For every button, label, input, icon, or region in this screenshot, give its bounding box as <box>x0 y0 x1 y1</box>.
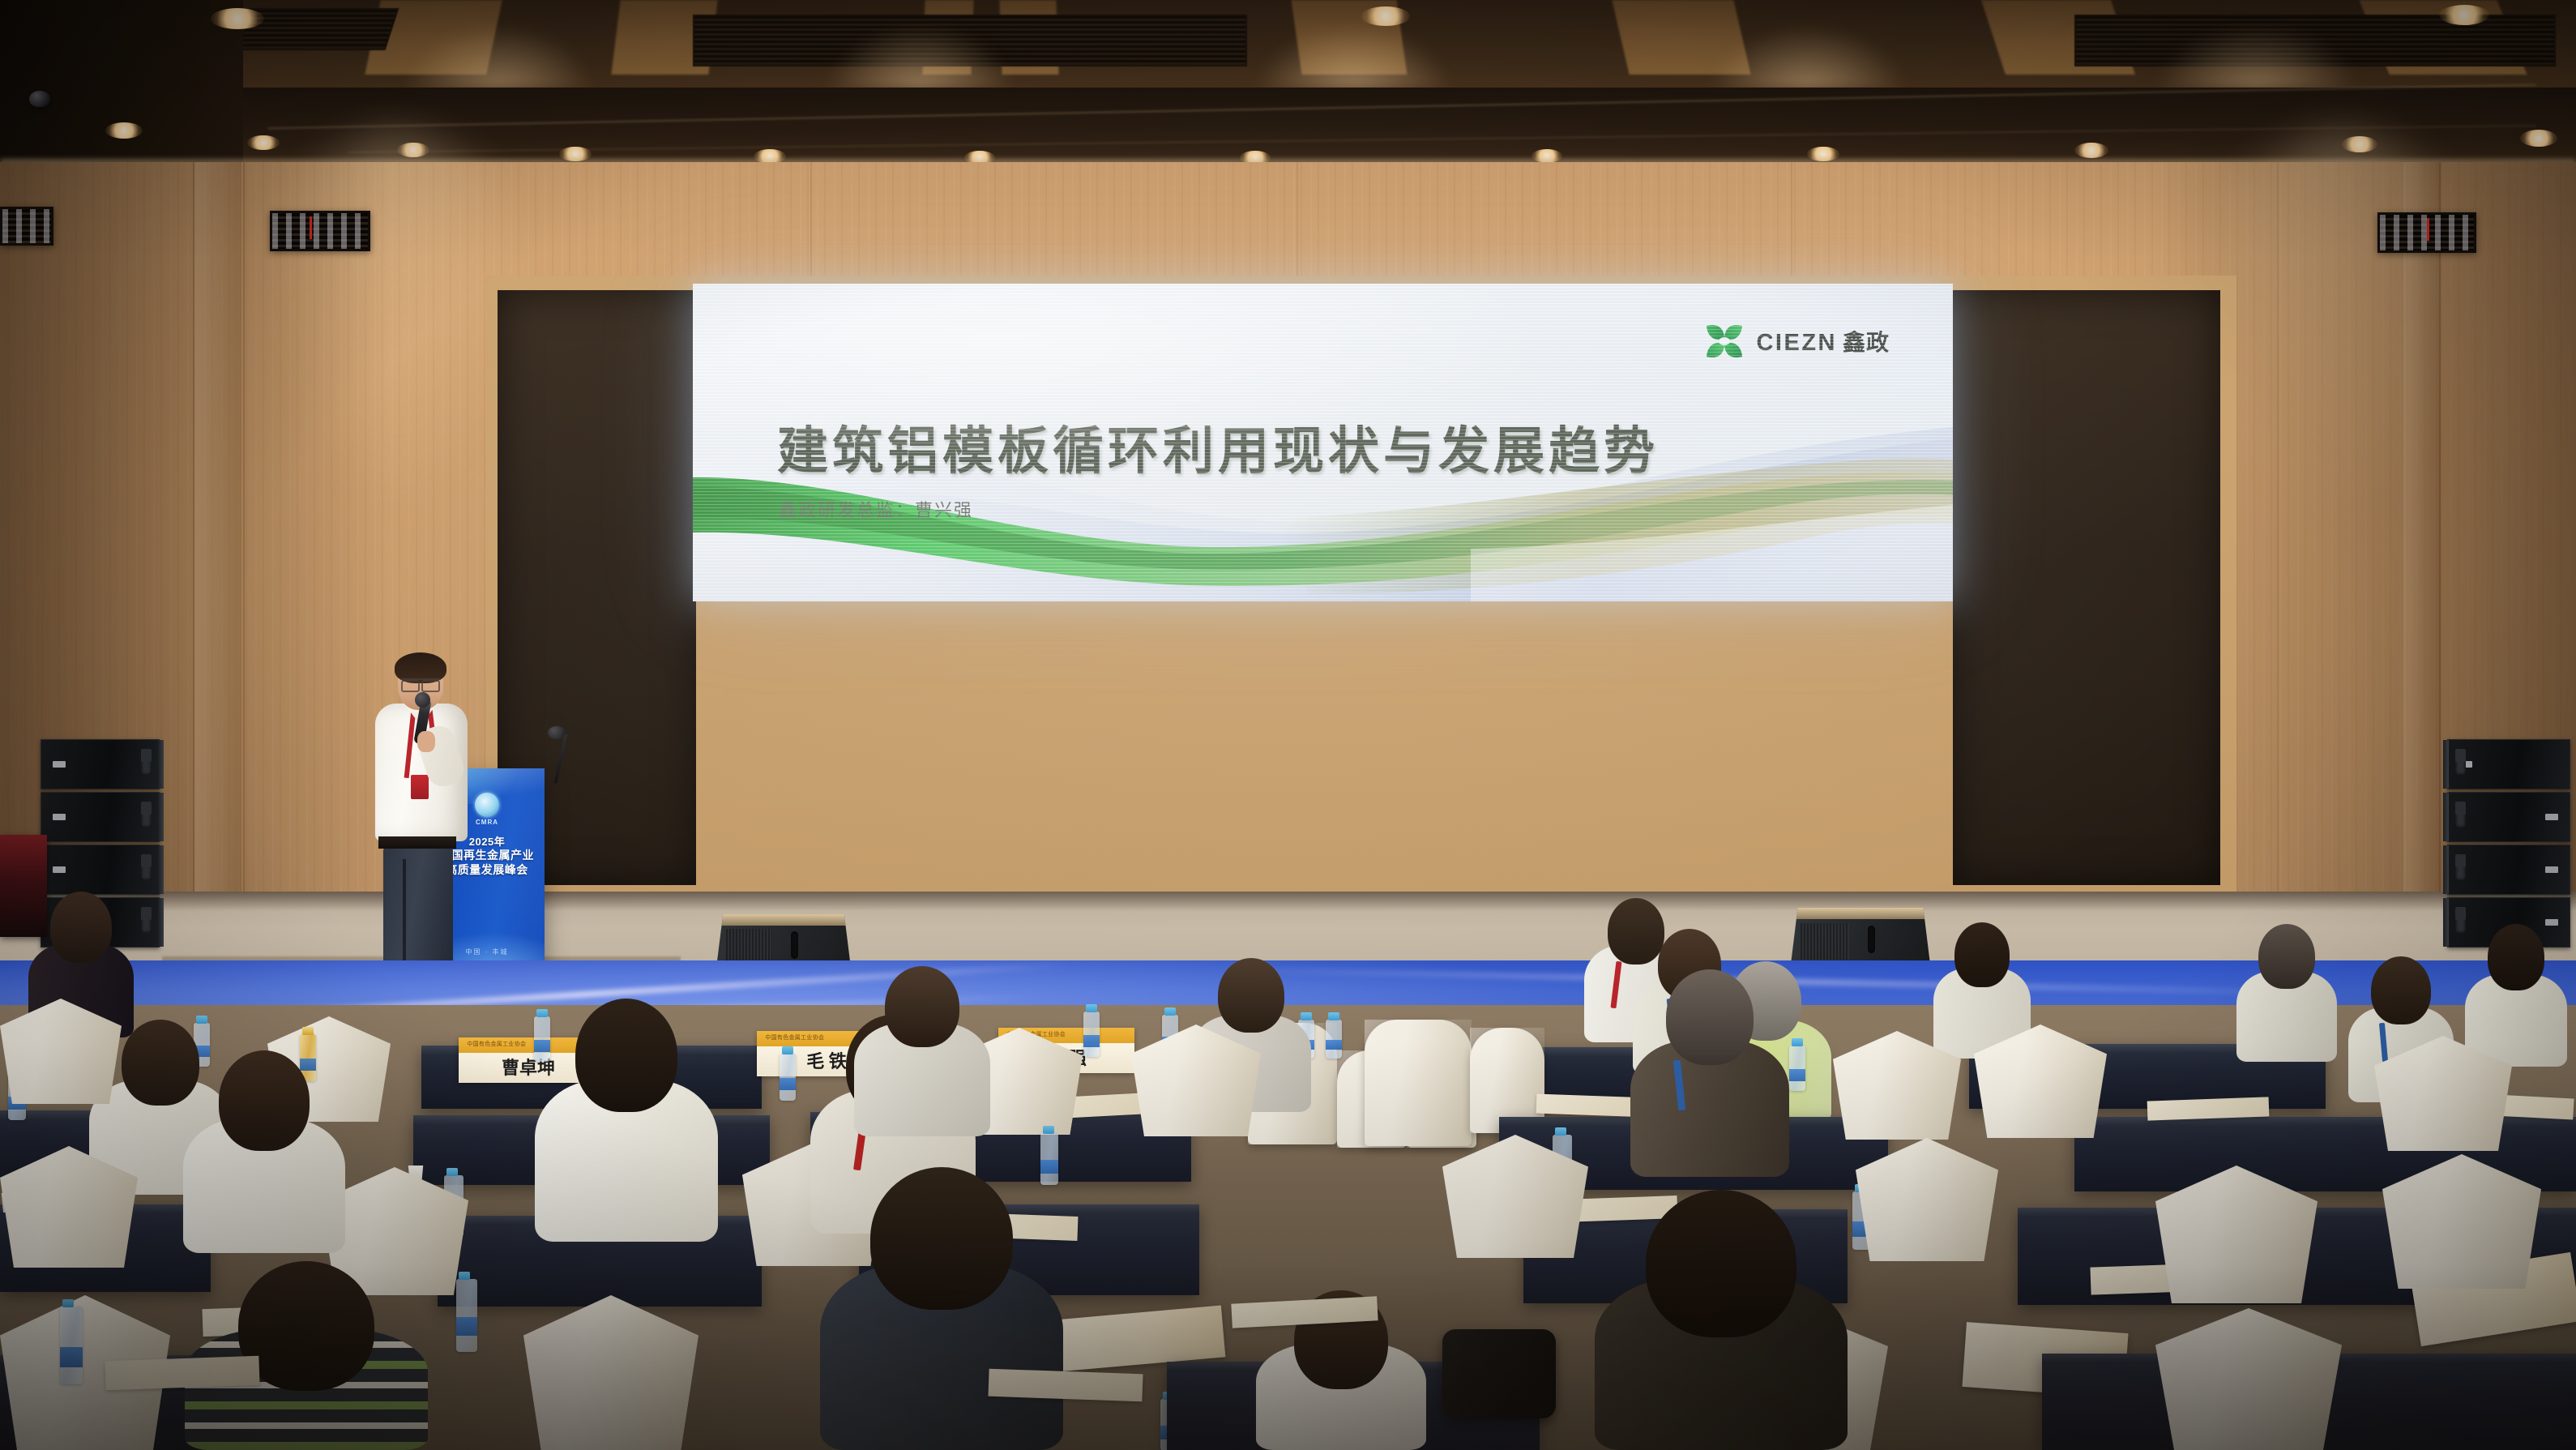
downlight <box>211 8 264 29</box>
presenter-trousers <box>383 846 453 969</box>
presenter-glasses-icon <box>400 678 441 689</box>
line-array-speaker-stack-right <box>2447 739 2569 950</box>
led-video-wall[interactable]: CIEZN 鑫政 建筑铝模板循环利用现状与发展趋势 鑫政研发总监：曹兴强 <box>693 284 1953 601</box>
wall-air-vent <box>270 211 370 251</box>
slide-logo: CIEZN 鑫政 <box>1704 321 1890 361</box>
slide-title: 建筑铝模板循环利用现状与发展趋势 <box>777 410 1659 484</box>
downlight <box>2439 5 2489 25</box>
presenter-leg-split <box>403 859 406 966</box>
ceiling-light-pool <box>1240 0 1467 91</box>
floor-bag <box>1442 1329 1556 1418</box>
handout-paper <box>988 1369 1143 1402</box>
audience-chair[interactable] <box>1365 1020 1472 1146</box>
conference-photo-scene: CIEZN 鑫政 建筑铝模板循环利用现状与发展趋势 鑫政研发总监：曹兴强 CMR… <box>0 0 2576 1450</box>
audience-person <box>854 966 990 1136</box>
audience-person-foreground <box>185 1261 428 1450</box>
ceiling-light-pool <box>2139 0 2374 91</box>
handheld-microphone-head-icon <box>415 692 430 708</box>
presenter-hand <box>417 731 435 752</box>
audience-person <box>2465 924 2567 1067</box>
cmra-emblem-icon <box>475 793 499 817</box>
logo-chinese-text: 鑫政 <box>1843 325 1890 357</box>
downlight <box>2520 130 2557 147</box>
cmra-emblem-label: CMRA <box>476 819 498 826</box>
audience-person <box>2236 924 2337 1062</box>
dome-camera-icon <box>29 91 50 107</box>
ceiling-light-pool <box>810 0 1029 91</box>
presenter-badge <box>411 775 429 799</box>
ceiling-light-pool <box>1694 0 1920 91</box>
ceiling-corner-shadow <box>0 0 243 178</box>
downlight <box>105 122 143 139</box>
ceiling-light-pool <box>389 0 608 91</box>
wall-air-vent <box>2377 212 2476 253</box>
slide-logo-text: CIEZN 鑫政 <box>1756 325 1890 357</box>
backdrop-dark-panel-right <box>1953 290 2220 885</box>
handout-paper <box>105 1356 259 1391</box>
presenter-person <box>369 657 474 977</box>
leaf-mark-svg <box>1704 321 1745 361</box>
audience-person <box>535 999 718 1242</box>
logo-latin-text: CIEZN <box>1756 330 1837 357</box>
downlight <box>247 135 280 150</box>
audience-person <box>183 1050 345 1253</box>
downlight <box>2074 143 2108 158</box>
podium-microphone-head-icon <box>548 726 566 739</box>
audience-person <box>1630 969 1789 1177</box>
nameplate-org: 中国有色金属工业协会 <box>467 1040 526 1048</box>
audience-person-foreground <box>820 1167 1063 1450</box>
wall-air-vent <box>0 207 53 246</box>
slide-subtitle: 鑫政研发总监：曹兴强 <box>779 496 973 522</box>
ciezn-leaf-mark-icon <box>1704 321 1745 361</box>
downlight <box>1361 6 1410 26</box>
presenter-belt <box>378 836 456 849</box>
audience-person-foreground <box>1595 1190 1848 1450</box>
